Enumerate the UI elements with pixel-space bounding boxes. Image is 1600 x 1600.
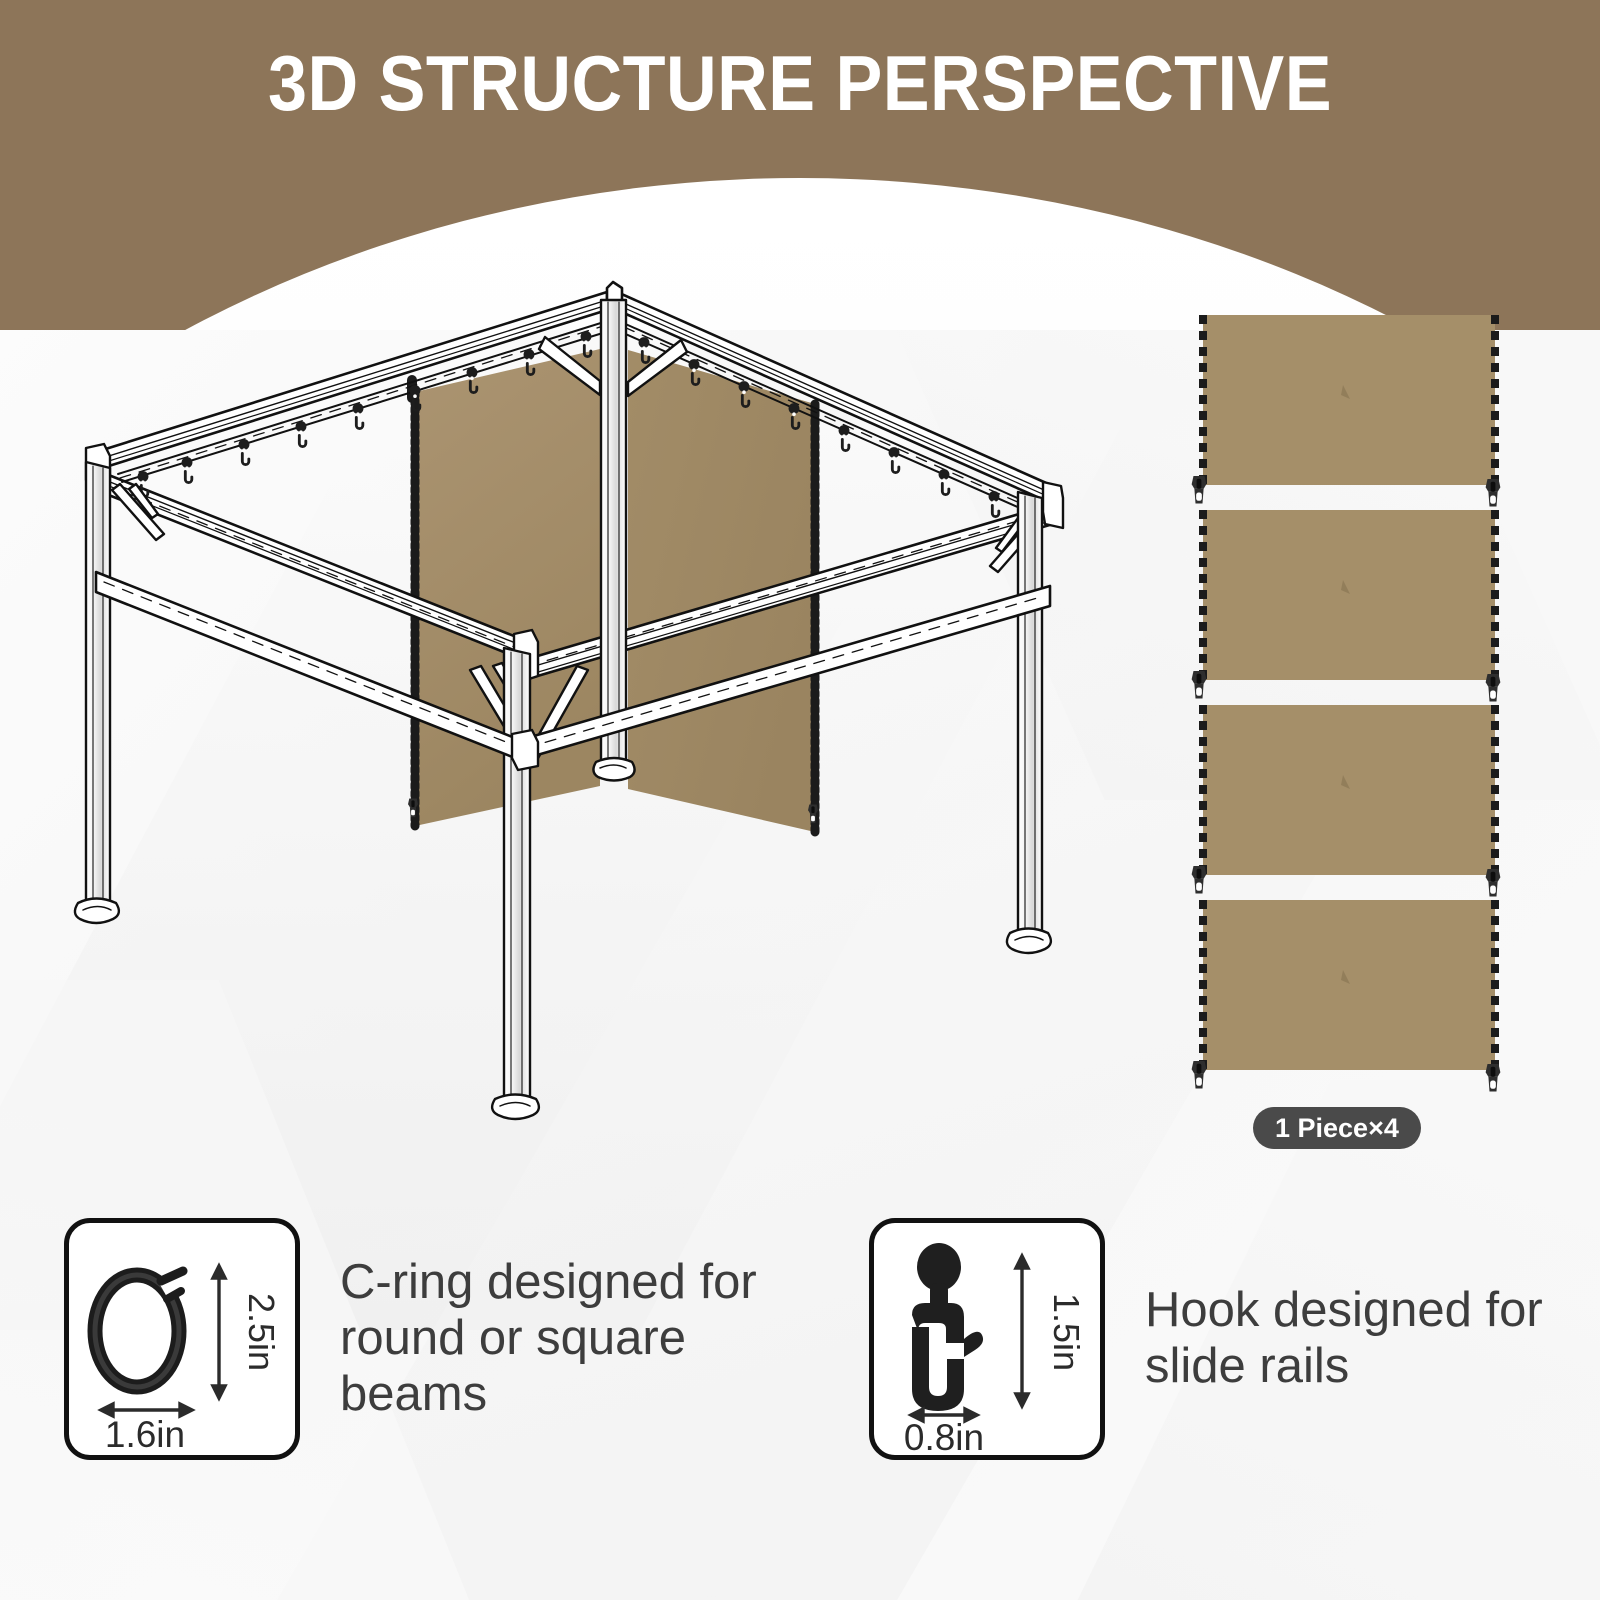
hook-width-label: 0.8in: [904, 1417, 984, 1455]
hook-icon-box: 1.5in 0.8in: [869, 1218, 1105, 1460]
c-ring-width-label: 1.6in: [105, 1414, 185, 1455]
hook-height-label: 1.5in: [1046, 1293, 1087, 1371]
c-ring-height-label: 2.5in: [241, 1293, 282, 1371]
feature-c-ring: 2.5in 1.6in C-ring designed for round or…: [64, 1218, 820, 1460]
c-ring-icon: 2.5in 1.6in: [69, 1223, 295, 1455]
feature-hook: 1.5in 0.8in Hook designed for slide rail…: [869, 1218, 1565, 1460]
hook-icon: 1.5in 0.8in: [874, 1223, 1100, 1455]
piece-count-badge: 1 Piece×4: [1253, 1107, 1421, 1149]
c-ring-icon-box: 2.5in 1.6in: [64, 1218, 300, 1460]
page-title: 3D STRUCTURE PERSPECTIVE: [80, 38, 1520, 129]
c-ring-description: C-ring designed for round or square beam…: [340, 1255, 820, 1423]
infographic-page: 3D STRUCTURE PERSPECTIVE: [0, 0, 1600, 1600]
hook-description: Hook designed for slide rails: [1145, 1283, 1565, 1395]
